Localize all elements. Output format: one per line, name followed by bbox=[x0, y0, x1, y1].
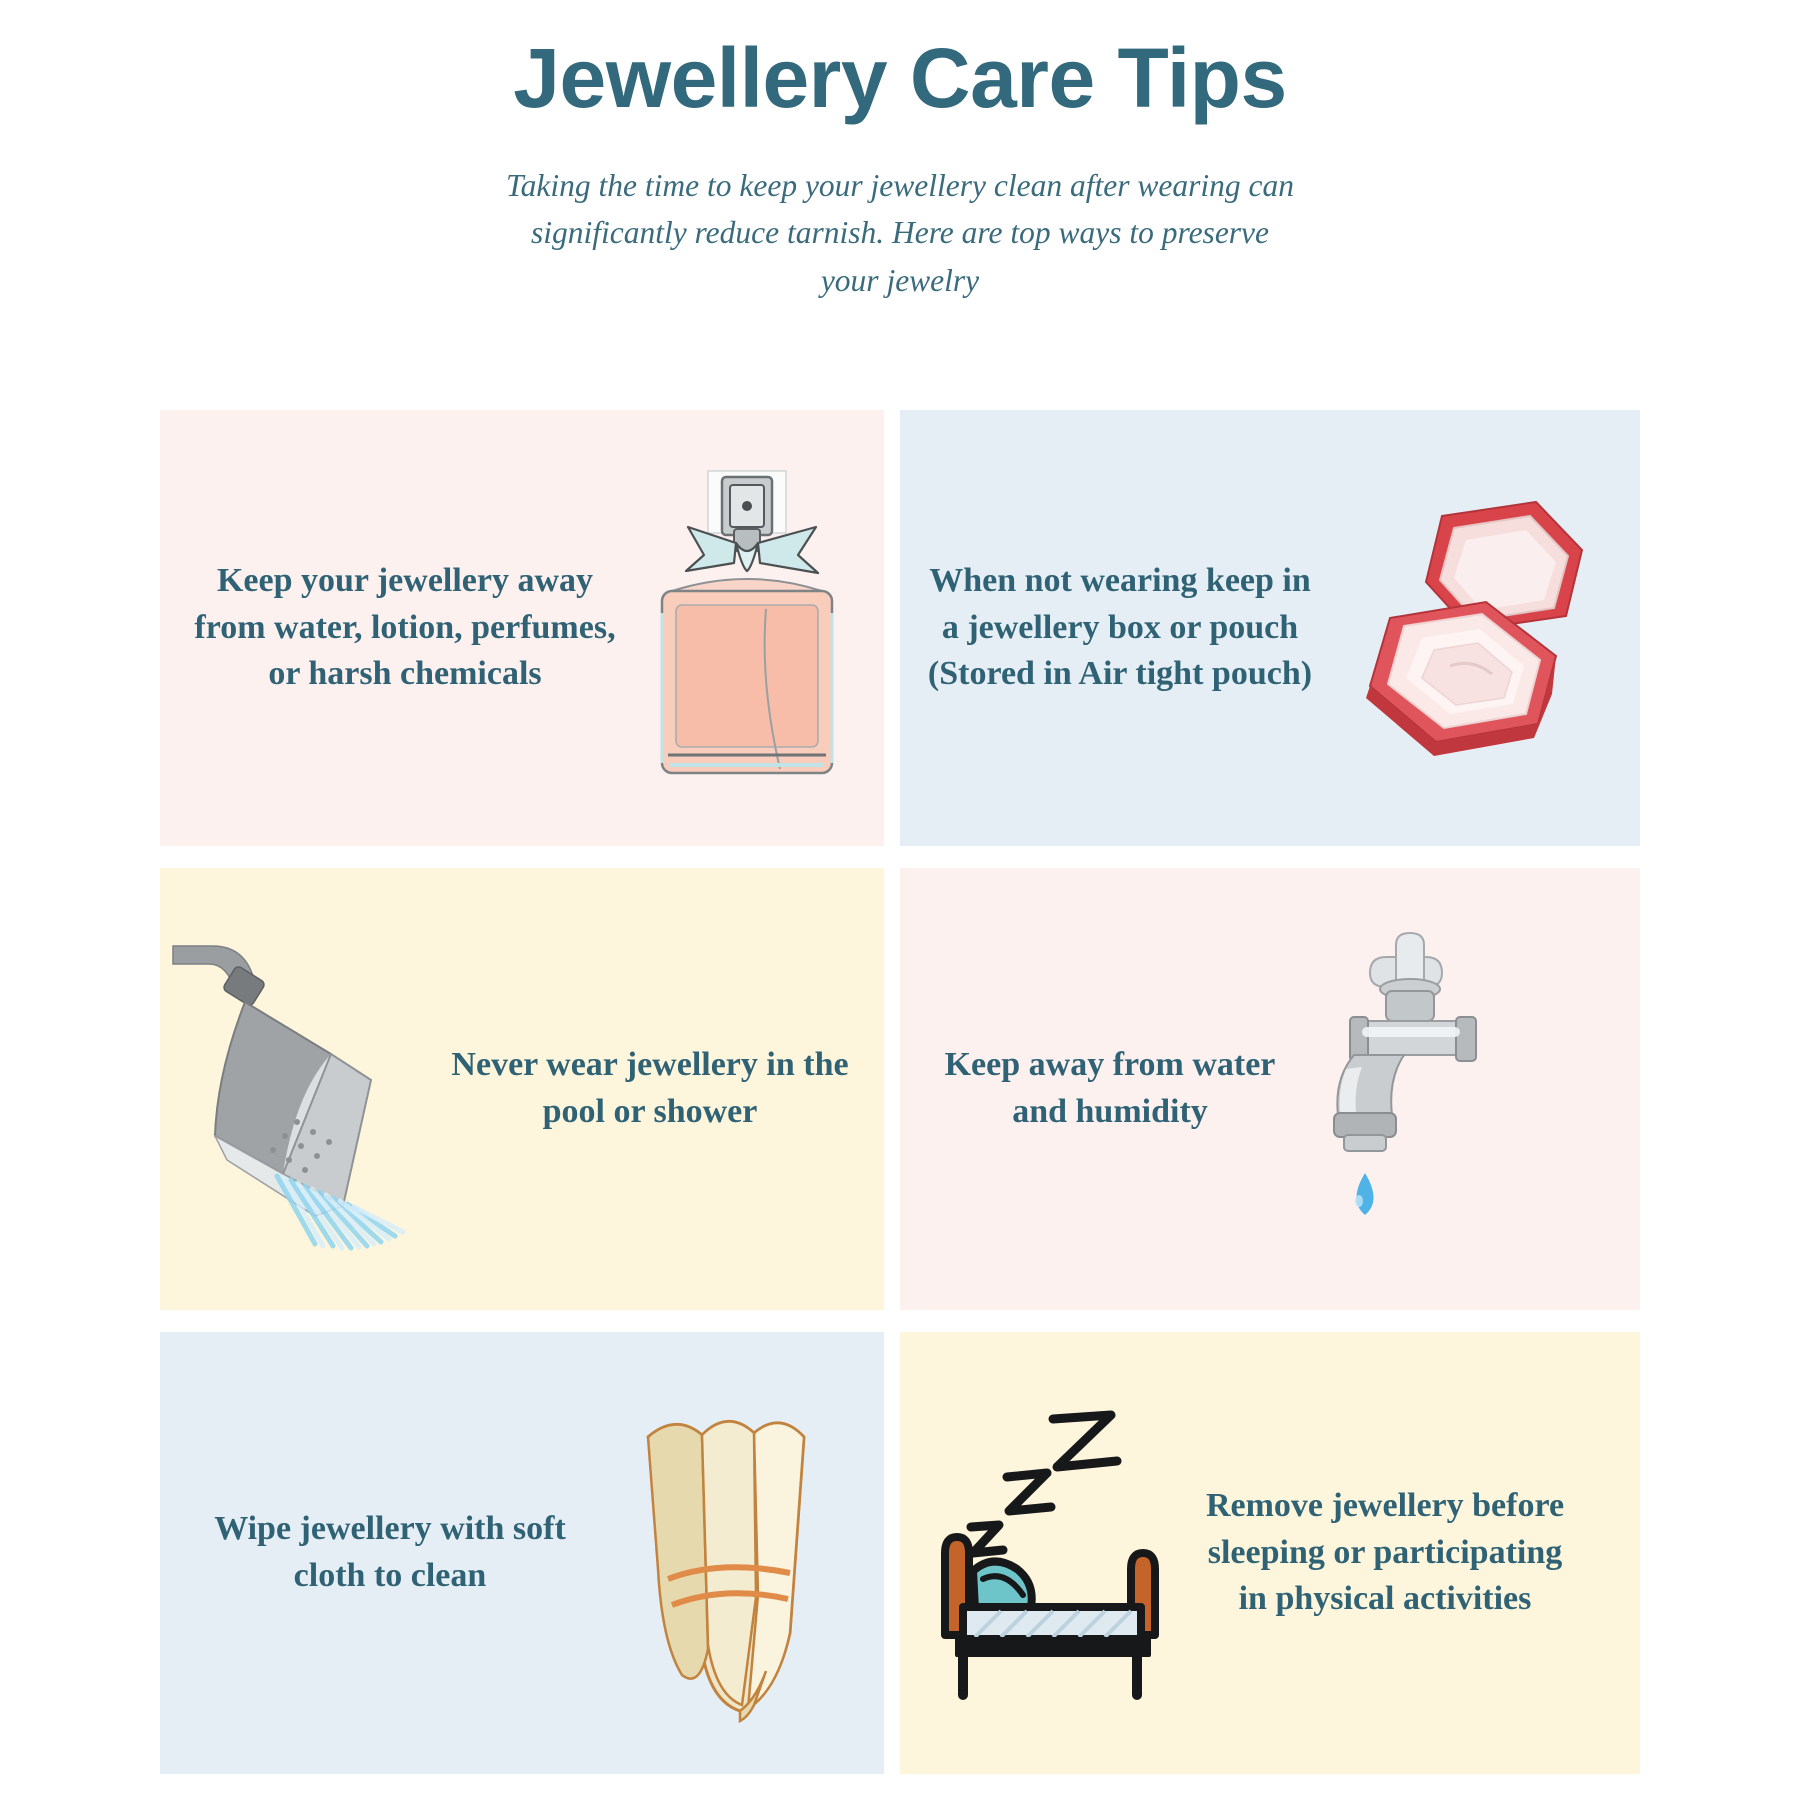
tip-card-3[interactable]: Never wear jewellery in the pool or show… bbox=[160, 868, 884, 1310]
header: Jewellery Care Tips Taking the time to k… bbox=[0, 0, 1800, 304]
jewellery-box-icon bbox=[1320, 410, 1610, 846]
grid-cell-2: When not wearing keep in a jewellery box… bbox=[900, 410, 1640, 868]
tip-card-1-text: Keep your jewellery away from water, lot… bbox=[190, 558, 620, 699]
tip-card-2-text: When not wearing keep in a jewellery box… bbox=[920, 558, 1320, 699]
tip-card-6[interactable]: Remove jewellery before sleeping or part… bbox=[900, 1332, 1640, 1774]
perfume-bottle-icon bbox=[620, 410, 870, 846]
tip-card-3-text: Never wear jewellery in the pool or show… bbox=[450, 1042, 850, 1136]
page-title: Jewellery Care Tips bbox=[0, 34, 1800, 122]
tip-card-4[interactable]: Keep away from water and humidity bbox=[900, 868, 1640, 1310]
tip-card-5-text: Wipe jewellery with soft cloth to clean bbox=[200, 1506, 580, 1600]
tip-card-5[interactable]: Wipe jewellery with soft cloth to clean bbox=[160, 1332, 884, 1774]
infographic-page: Jewellery Care Tips Taking the time to k… bbox=[0, 0, 1800, 1800]
grid-cell-3: Never wear jewellery in the pool or show… bbox=[160, 868, 900, 1332]
grid-cell-4: Keep away from water and humidity bbox=[900, 868, 1640, 1332]
shower-head-icon bbox=[160, 868, 450, 1310]
sleeping-bed-icon bbox=[900, 1332, 1200, 1774]
grid-cell-6: Remove jewellery before sleeping or part… bbox=[900, 1332, 1640, 1774]
faucet-icon bbox=[1290, 868, 1590, 1310]
page-subtitle: Taking the time to keep your jewellery c… bbox=[505, 162, 1295, 304]
tips-grid: Keep your jewellery away from water, lot… bbox=[160, 410, 1640, 1774]
grid-cell-1: Keep your jewellery away from water, lot… bbox=[160, 410, 900, 868]
tip-card-6-text: Remove jewellery before sleeping or part… bbox=[1200, 1483, 1570, 1624]
cloth-icon bbox=[580, 1332, 870, 1774]
tip-card-2[interactable]: When not wearing keep in a jewellery box… bbox=[900, 410, 1640, 846]
tip-card-1[interactable]: Keep your jewellery away from water, lot… bbox=[160, 410, 884, 846]
tip-card-4-text: Keep away from water and humidity bbox=[930, 1042, 1290, 1136]
grid-cell-5: Wipe jewellery with soft cloth to clean bbox=[160, 1332, 900, 1774]
